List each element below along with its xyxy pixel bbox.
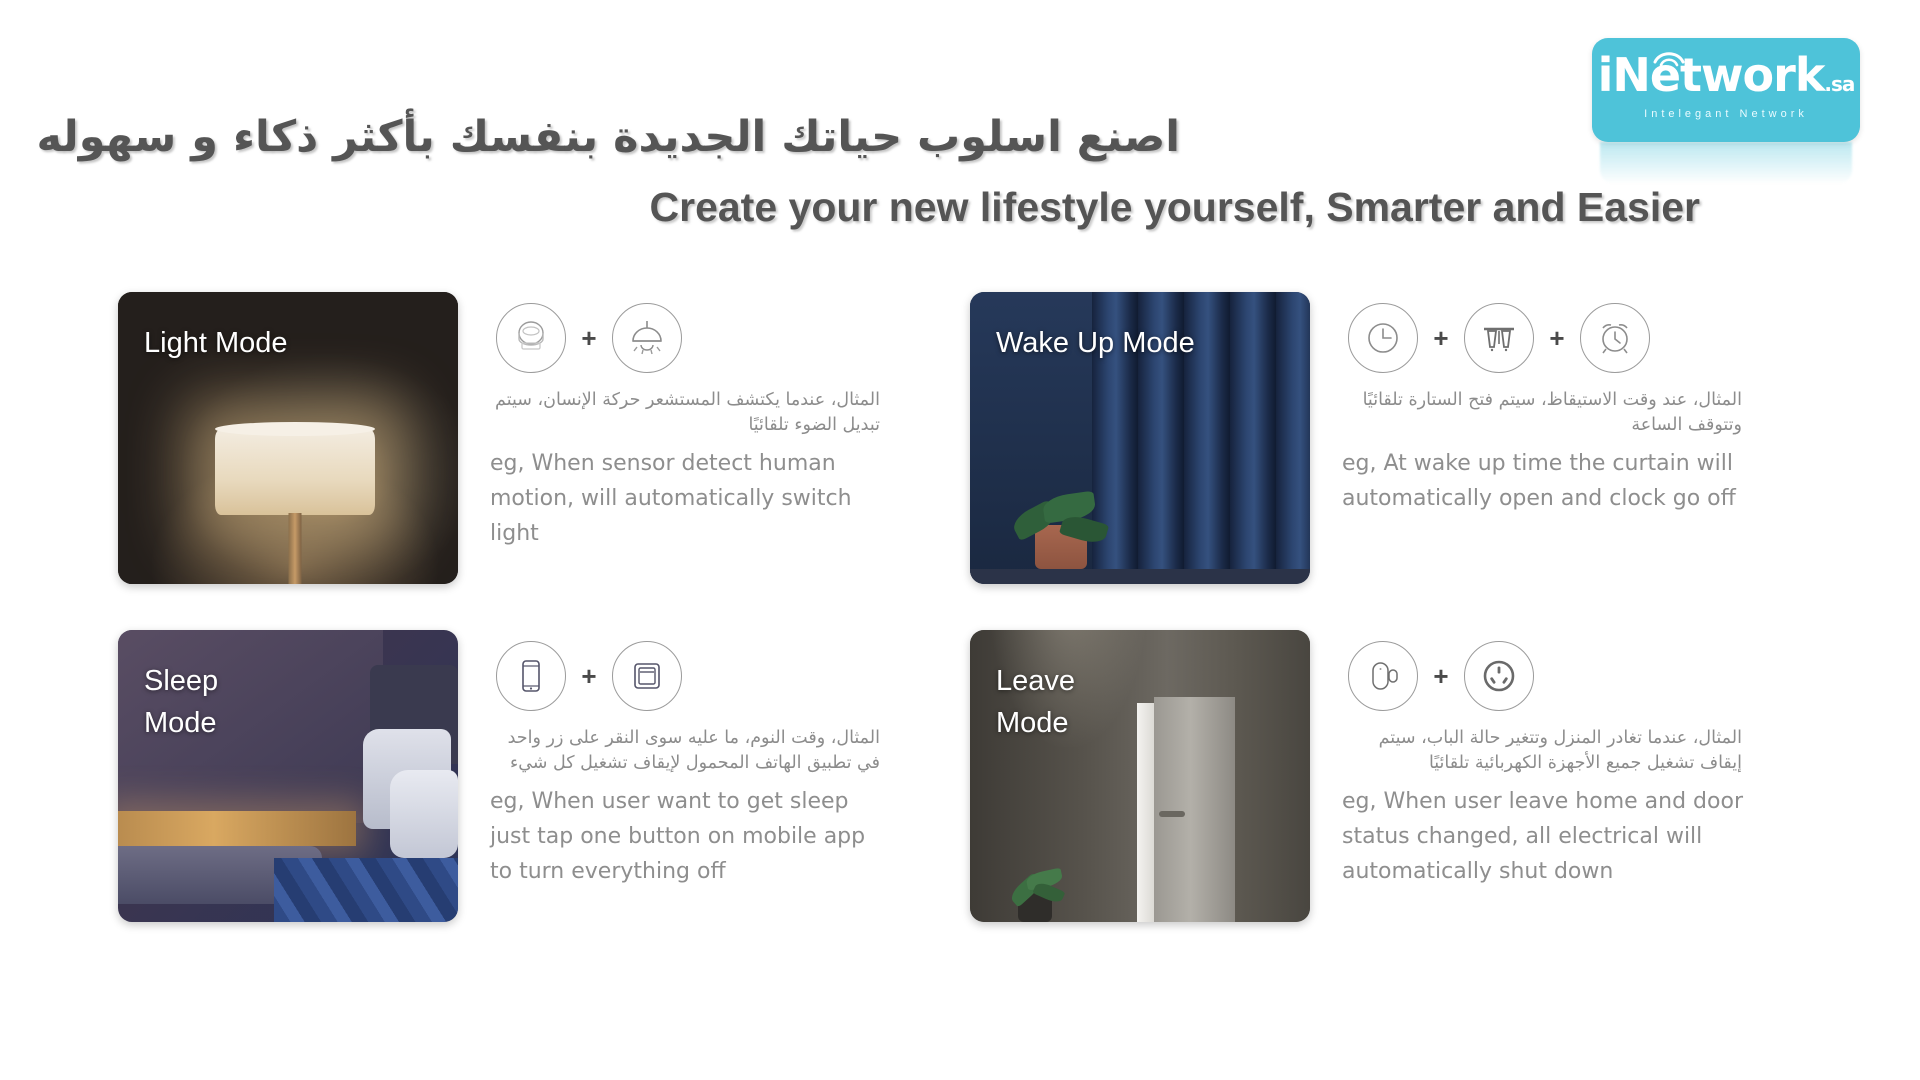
logo-reflection — [1600, 142, 1852, 184]
mode-card-sleep: Sleep Mode + — [118, 630, 998, 960]
mode-label-wakeup: Wake Up Mode — [996, 322, 1195, 364]
plus-separator: + — [1544, 325, 1570, 351]
plus-separator: + — [576, 325, 602, 351]
clock-icon — [1348, 303, 1418, 373]
modes-row-2: Sleep Mode + — [0, 630, 1920, 968]
alarm-clock-icon — [1580, 303, 1650, 373]
mode-card-light: Light Mode + — [118, 292, 998, 622]
modes-row-1: Light Mode + — [0, 292, 1920, 630]
mode-desc-english-wakeup: eg, At wake up time the curtain will aut… — [1342, 446, 1762, 516]
logo-tld: .sa — [1824, 72, 1854, 96]
floor — [970, 569, 1310, 584]
logo-plate: iNetwork.sa Intelegant Network — [1592, 38, 1860, 142]
quilt — [274, 858, 458, 922]
plus-separator: + — [576, 663, 602, 689]
mode-label-light: Light Mode — [144, 322, 288, 364]
logo-word-text: iNetwork — [1598, 48, 1825, 102]
mode-desc-arabic-leave: المثال، عندما تغادر المنزل وتتغير حالة ا… — [1342, 726, 1742, 776]
door-handle — [1159, 811, 1185, 817]
mode-info-leave: + المثال، عندما تغادر المنزل وتتغير حالة… — [1342, 630, 1842, 960]
door-gap-light — [1137, 703, 1154, 922]
page-title-english: Create your new lifestyle yourself, Smar… — [0, 184, 1700, 231]
curtain-icon — [1464, 303, 1534, 373]
mode-icons-leave: + — [1342, 630, 1842, 722]
mode-desc-english-sleep: eg, When user want to get sleep just tap… — [490, 784, 890, 889]
mode-label-sleep: Sleep Mode — [144, 660, 218, 744]
lit-nightstand — [118, 811, 356, 846]
logo-tagline: Intelegant Network — [1592, 108, 1860, 120]
page-title-arabic: اصنع اسلوب حياتك الجديدة بنفسك بأكثر ذكا… — [0, 112, 1180, 162]
mode-icons-sleep: + — [490, 630, 990, 722]
mode-desc-arabic-wakeup: المثال، عند وقت الاستيقاظ، سيتم فتح الست… — [1342, 388, 1742, 438]
lamp-pole — [288, 513, 301, 584]
open-door — [1154, 697, 1236, 922]
mode-card-leave: Leave Mode + — [970, 630, 1850, 960]
mode-info-light: + المثال، عندما — [490, 292, 990, 622]
mode-card-wakeup: Wake Up Mode + — [970, 292, 1850, 622]
mode-icons-wakeup: + + — [1342, 292, 1842, 384]
mode-info-sleep: + المثال، وقت النوم، ما عليه سوى النقر ع… — [490, 630, 990, 960]
plus-separator: + — [1428, 663, 1454, 689]
brand-logo: iNetwork.sa Intelegant Network — [1592, 38, 1860, 142]
mode-info-wakeup: + + — [1342, 292, 1842, 622]
motion-sensor-icon — [496, 303, 566, 373]
mode-desc-arabic-sleep: المثال، وقت النوم، ما عليه سوى النقر على… — [490, 726, 880, 776]
mode-label-leave: Leave Mode — [996, 660, 1075, 744]
mode-desc-english-leave: eg, When user leave home and door status… — [1342, 784, 1762, 889]
pillow — [390, 770, 458, 858]
mode-photo-wakeup: Wake Up Mode — [970, 292, 1310, 584]
plus-separator: + — [1428, 325, 1454, 351]
ceiling-lamp-icon — [612, 303, 682, 373]
lamp-shade — [215, 429, 375, 515]
mode-photo-light: Light Mode — [118, 292, 458, 584]
mode-photo-leave: Leave Mode — [970, 630, 1310, 922]
mode-icons-light: + — [490, 292, 990, 384]
modes-grid: Light Mode + — [0, 292, 1920, 968]
mode-photo-sleep: Sleep Mode — [118, 630, 458, 922]
wall-switch-icon — [612, 641, 682, 711]
power-socket-icon — [1464, 641, 1534, 711]
door-contact-sensor-icon — [1348, 641, 1418, 711]
mode-desc-english-light: eg, When sensor detect human motion, wil… — [490, 446, 890, 551]
mode-desc-arabic-light: المثال، عندما يكتشف المستشعر حركة الإنسا… — [490, 388, 880, 438]
smartphone-icon — [496, 641, 566, 711]
logo-wordmark: iNetwork.sa — [1592, 52, 1860, 98]
